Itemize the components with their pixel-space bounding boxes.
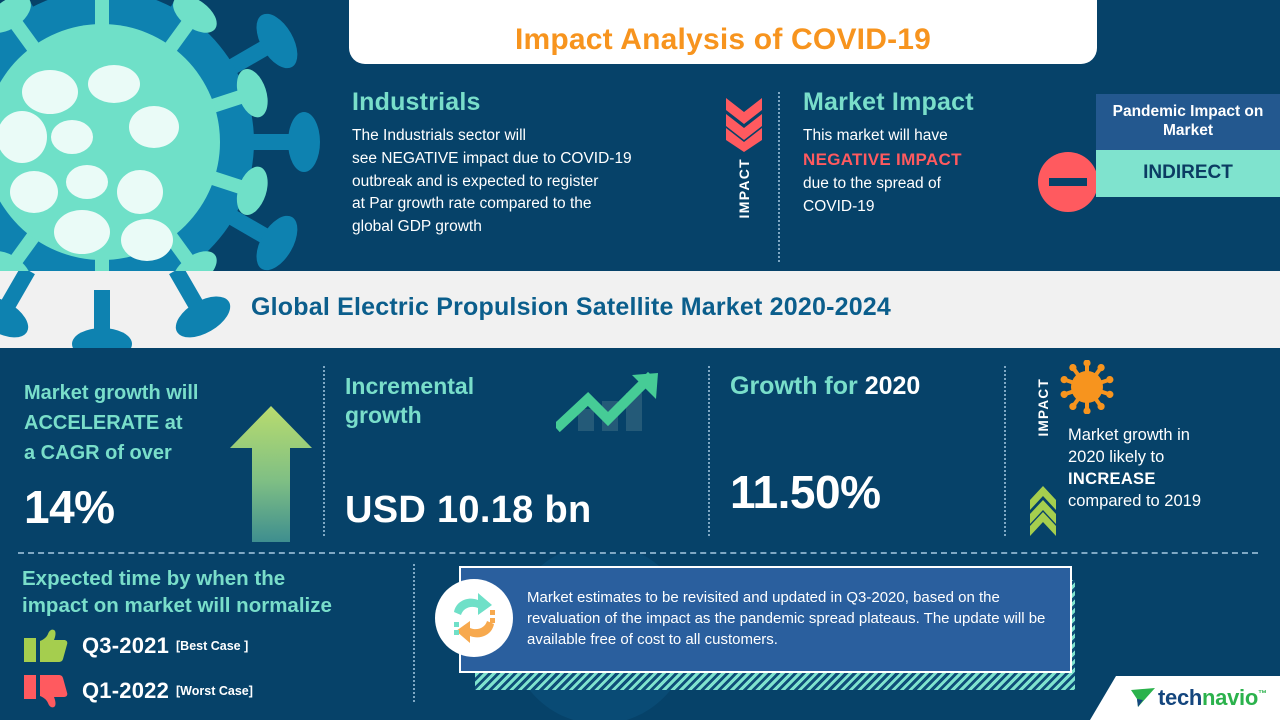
cagr-lead-3: a CAGR of over	[24, 438, 239, 468]
technavio-logo[interactable]: technavio™	[1090, 676, 1280, 720]
incremental-value: USD 10.18 bn	[345, 489, 605, 532]
worst-case-tag: [Worst Case]	[176, 684, 253, 698]
arrow-up-icon	[228, 404, 314, 544]
industrials-line-4: at Par growth rate compared to the	[352, 193, 712, 216]
minus-circle-icon	[1038, 152, 1098, 212]
metrics-impact-label: IMPACT	[1036, 378, 1051, 437]
logo-trademark: ™	[1258, 689, 1267, 699]
coronavirus-illustration-icon	[0, 0, 322, 271]
impact-emphasis: INCREASE	[1068, 468, 1273, 490]
growth-2020-lead-year: 2020	[865, 372, 921, 400]
industrials-text: The Industrials sector will see NEGATIVE…	[352, 125, 712, 239]
industrials-line-1: The Industrials sector will	[352, 125, 712, 148]
market-impact-text: This market will have NEGATIVE IMPACT du…	[803, 125, 1038, 218]
report-title-bar: Global Electric Propulsion Satellite Mar…	[0, 271, 1280, 348]
chevron-up-icon	[1028, 480, 1058, 541]
metric-cagr: Market growth will ACCELERATE at a CAGR …	[24, 378, 239, 534]
worst-case-quarter: Q1-2022	[82, 678, 169, 704]
thumbs-up-icon	[22, 628, 68, 664]
header-impact-label: IMPACT	[736, 158, 752, 218]
paper-plane-icon	[1130, 687, 1156, 709]
note-box: Market estimates to be revisited and upd…	[459, 566, 1072, 673]
industrials-line-2: see NEGATIVE impact due to COVID-19	[352, 148, 712, 171]
industrials-heading: Industrials	[352, 88, 712, 117]
growth-2020-lead: Growth for 2020	[730, 372, 980, 401]
best-case-tag: [Best Case ]	[176, 639, 248, 653]
metric-divider-1	[323, 366, 325, 536]
industrials-line-3: outbreak and is expected to register	[352, 171, 712, 194]
impact-line-2: 2020 likely to	[1068, 446, 1273, 468]
market-impact-block: Market Impact This market will have NEGA…	[803, 88, 1038, 218]
refresh-icon	[434, 578, 514, 658]
cagr-lead-2: ACCELERATE at	[24, 408, 239, 438]
growth-2020-lead-prefix: Growth for	[730, 372, 865, 400]
cagr-lead: Market growth will ACCELERATE at a CAGR …	[24, 378, 239, 468]
best-case-quarter: Q3-2021	[82, 633, 169, 659]
market-impact-line-2: due to the spread of	[803, 173, 1038, 196]
header-impact-indicator: IMPACT	[722, 96, 766, 223]
impact-line-3: compared to 2019	[1068, 490, 1273, 512]
expected-lead-1: Expected time by when the	[22, 566, 442, 593]
pandemic-impact-panel: Pandemic Impact on Market INDIRECT	[1096, 94, 1280, 197]
cagr-lead-1: Market growth will	[24, 378, 239, 408]
metrics-impact-text: Market growth in 2020 likely to INCREASE…	[1068, 424, 1273, 512]
cagr-value: 14%	[24, 480, 239, 534]
best-case-row: Q3-2021 [Best Case ]	[22, 628, 442, 664]
infographic-canvas: Impact Analysis of COVID-19 Industrials …	[0, 0, 1280, 720]
metrics-impact-label-wrap: IMPACT	[1026, 378, 1060, 442]
growth-chart-icon	[556, 371, 668, 433]
metric-divider-2	[708, 366, 710, 536]
header-divider	[778, 92, 780, 262]
metric-divider-3	[1004, 366, 1006, 536]
market-impact-line-1: This market will have	[803, 125, 1038, 148]
thumbs-down-icon	[22, 673, 68, 709]
note-text: Market estimates to be revisited and upd…	[461, 588, 1070, 650]
title-banner: Impact Analysis of COVID-19	[349, 0, 1097, 64]
worst-case-row: Q1-2022 [Worst Case]	[22, 673, 442, 709]
logo-text-part1: tech	[1158, 685, 1202, 710]
expected-normalize-block: Expected time by when the impact on mark…	[22, 566, 442, 709]
market-impact-heading: Market Impact	[803, 88, 1038, 117]
growth-2020-value: 11.50%	[730, 465, 980, 519]
header-band: Impact Analysis of COVID-19 Industrials …	[0, 0, 1280, 271]
bottom-divider	[413, 564, 415, 702]
industrials-block: Industrials The Industrials sector will …	[352, 88, 712, 239]
note-line-4: to all customers.	[669, 631, 778, 648]
pandemic-panel-value: INDIRECT	[1096, 150, 1280, 197]
expected-lead: Expected time by when the impact on mark…	[22, 566, 442, 619]
pandemic-panel-title: Pandemic Impact on Market	[1096, 94, 1280, 150]
report-title: Global Electric Propulsion Satellite Mar…	[251, 293, 891, 322]
logo-text: technavio™	[1158, 685, 1267, 711]
metric-growth-2020: Growth for 2020 11.50%	[730, 372, 980, 519]
impact-line-1: Market growth in	[1068, 424, 1273, 446]
logo-content: technavio™	[1130, 685, 1267, 711]
industrials-line-5: global GDP growth	[352, 216, 712, 239]
market-impact-emphasis: NEGATIVE IMPACT	[803, 148, 1038, 173]
note-line-1: Market estimates to be revisited and upd…	[527, 589, 909, 606]
chevron-down-icon	[724, 96, 764, 152]
market-impact-line-3: COVID-19	[803, 196, 1038, 219]
virus-small-icon	[1060, 360, 1114, 414]
expected-lead-2: impact on market will normalize	[22, 593, 442, 620]
page-title: Impact Analysis of COVID-19	[515, 23, 931, 57]
logo-text-part2: navio	[1202, 685, 1258, 710]
